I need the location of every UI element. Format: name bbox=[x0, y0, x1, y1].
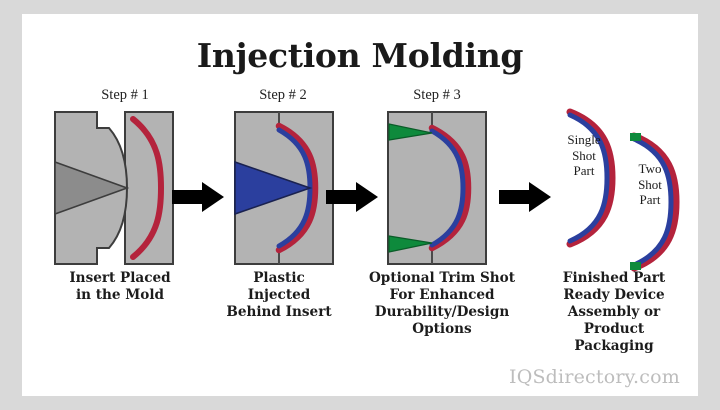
step-1-caption: Insert Placed in the Mold bbox=[30, 270, 210, 304]
step-label-3: Step # 3 bbox=[372, 87, 502, 104]
step-3-caption-line-3: Durability/Design bbox=[352, 304, 532, 321]
watermark: IQSdirectory.com bbox=[509, 366, 680, 388]
two-shot-part-label-line-1: Two bbox=[626, 161, 674, 177]
step-4-diagram bbox=[550, 96, 698, 276]
green-trim-tip-bottom bbox=[630, 262, 641, 270]
step-2-caption-line-2: Injected bbox=[204, 287, 354, 304]
arrow-2 bbox=[324, 180, 380, 214]
step-4-caption-line-2: Ready Device bbox=[534, 287, 694, 304]
step-4-caption-line-3: Assembly or bbox=[534, 304, 694, 321]
step-2-caption: Plastic Injected Behind Insert bbox=[204, 270, 354, 321]
step-1-caption-line-1: Insert Placed bbox=[30, 270, 210, 287]
step-4-caption: Finished Part Ready Device Assembly or P… bbox=[534, 270, 694, 355]
step-label-1: Step # 1 bbox=[60, 87, 190, 104]
single-shot-part-label-line-2: Shot bbox=[556, 148, 612, 164]
step-3-caption-line-1: Optional Trim Shot bbox=[352, 270, 532, 287]
step-2-caption-line-1: Plastic bbox=[204, 270, 354, 287]
step-1-caption-line-2: in the Mold bbox=[30, 287, 210, 304]
two-shot-part-label-line-2: Shot bbox=[626, 177, 674, 193]
injection-molding-infographic: Injection Molding Step # 1 Step # 2 Step… bbox=[0, 0, 720, 410]
single-shot-part-label-line-3: Part bbox=[556, 163, 612, 179]
two-shot-part-label: Two Shot Part bbox=[626, 161, 674, 208]
arrow-1 bbox=[170, 180, 226, 214]
green-trim-tip-top bbox=[630, 133, 641, 141]
step-3-diagram bbox=[380, 106, 500, 271]
step-1-diagram bbox=[47, 106, 187, 271]
single-shot-part-label-line-1: Single bbox=[556, 132, 612, 148]
two-shot-part-label-line-3: Part bbox=[626, 192, 674, 208]
single-shot-part-label: Single Shot Part bbox=[556, 132, 612, 179]
step-3-caption: Optional Trim Shot For Enhanced Durabili… bbox=[352, 270, 532, 338]
step-3-caption-line-2: For Enhanced bbox=[352, 287, 532, 304]
page-title: Injection Molding bbox=[22, 36, 698, 75]
step-4-caption-line-4: Product bbox=[534, 321, 694, 338]
infographic-panel: Injection Molding Step # 1 Step # 2 Step… bbox=[22, 14, 698, 396]
step-4-caption-line-1: Finished Part bbox=[534, 270, 694, 287]
step-4-caption-line-5: Packaging bbox=[534, 338, 694, 355]
step-label-2: Step # 2 bbox=[218, 87, 348, 104]
step-2-caption-line-3: Behind Insert bbox=[204, 304, 354, 321]
step-3-caption-line-4: Options bbox=[352, 321, 532, 338]
arrow-3 bbox=[497, 180, 553, 214]
